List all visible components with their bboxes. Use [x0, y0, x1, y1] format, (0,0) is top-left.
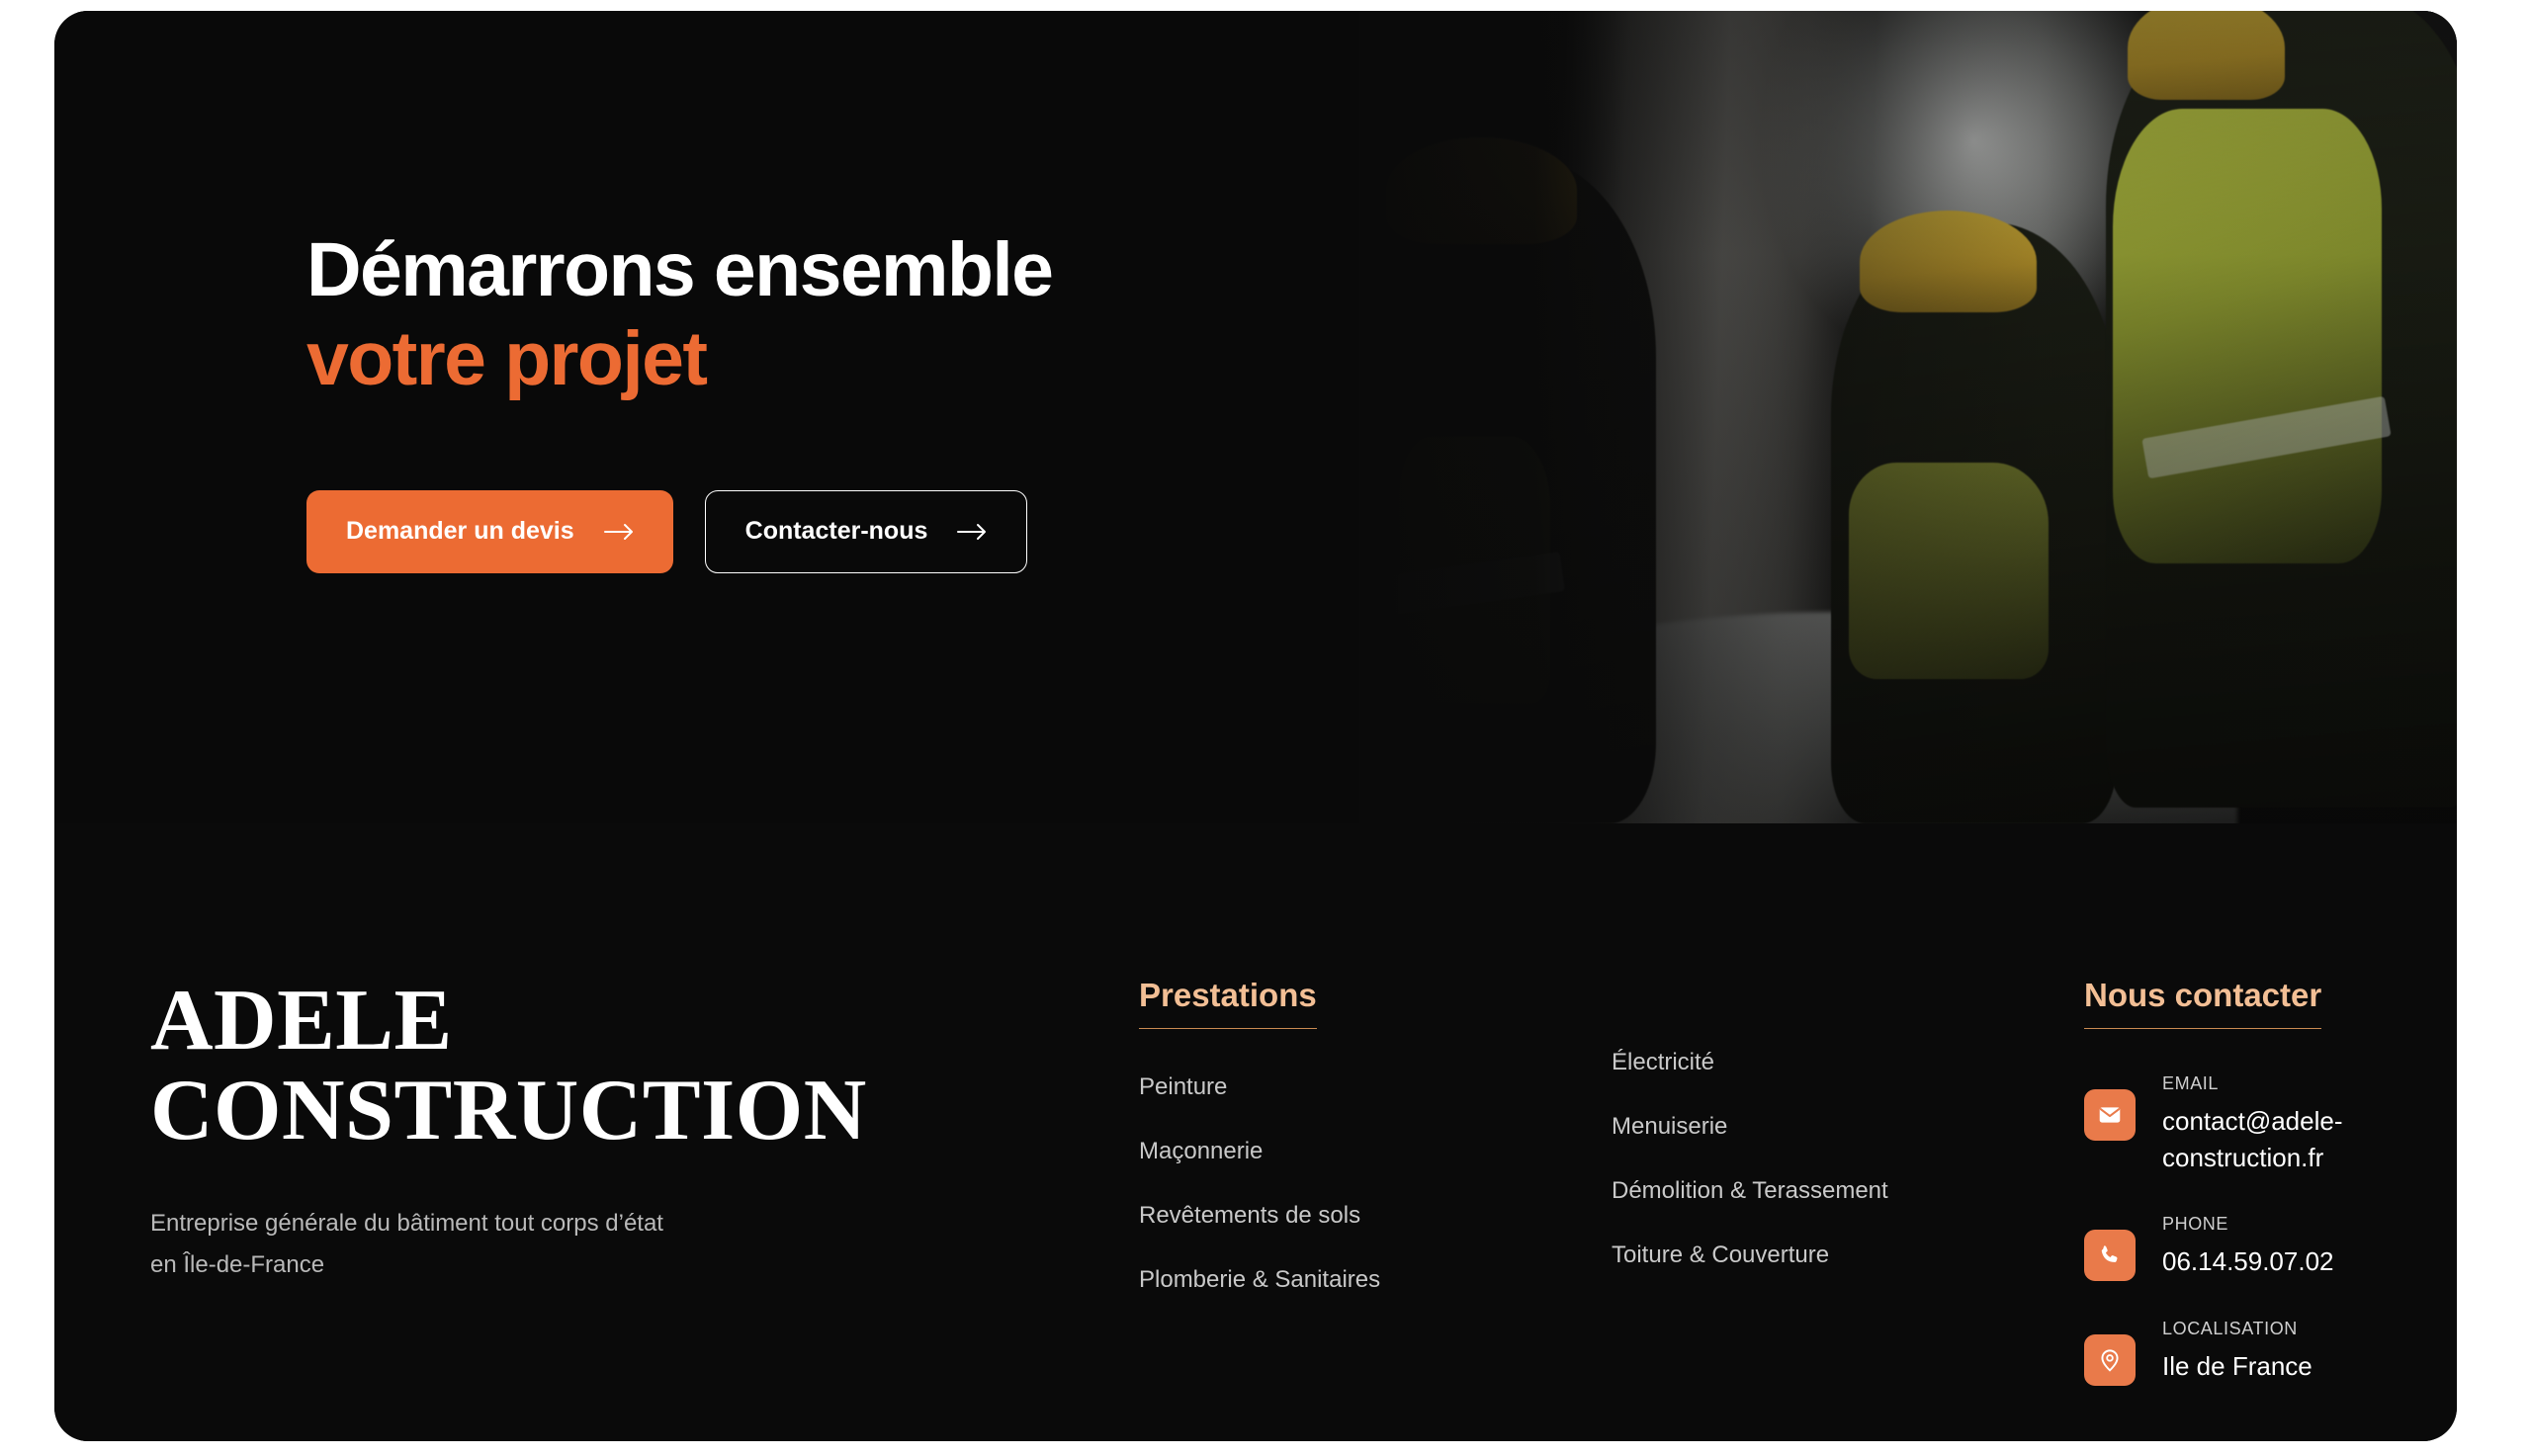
- phone-icon: [2084, 1230, 2136, 1281]
- services-list-1: Peinture Maçonnerie Revêtements de sols …: [1139, 1073, 1612, 1294]
- service-link-plomberie-sanitaires[interactable]: Plomberie & Sanitaires: [1139, 1266, 1380, 1293]
- hero-title: Démarrons ensemble votre projet: [306, 230, 1052, 399]
- footer-contact-column: Nous contacter EMAIL contact@adele-const…: [2084, 977, 2361, 1386]
- contact-heading: Nous contacter: [2084, 977, 2321, 1029]
- hero-section: Démarrons ensemble votre projet Demander…: [54, 11, 2457, 823]
- services-list-2: Électricité Menuiserie Démolition & Tera…: [1612, 1049, 2084, 1269]
- brand-tagline-line-2: en Île-de-France: [150, 1251, 324, 1278]
- brand-tagline-line-1: Entreprise générale du bâtiment tout cor…: [150, 1210, 663, 1237]
- list-item: Électricité: [1612, 1049, 2084, 1076]
- list-item: Peinture: [1139, 1073, 1612, 1101]
- brand-logo: ADELE CONSTRUCTION: [150, 977, 1139, 1156]
- footer-columns: ADELE CONSTRUCTION Entreprise générale d…: [54, 977, 2457, 1386]
- arrow-right-icon: [957, 523, 987, 541]
- arrow-right-icon: [604, 523, 634, 541]
- contact-email-value: contact@adele-construction.fr: [2162, 1103, 2360, 1176]
- page-card: Démarrons ensemble votre projet Demander…: [54, 11, 2457, 1441]
- service-link-toiture-couverture[interactable]: Toiture & Couverture: [1612, 1242, 1829, 1268]
- footer-brand-column: ADELE CONSTRUCTION Entreprise générale d…: [150, 977, 1139, 1386]
- hero-image-vignette: [1359, 11, 2457, 823]
- contact-email-label: EMAIL: [2162, 1073, 2360, 1094]
- footer: ADELE CONSTRUCTION Entreprise générale d…: [54, 823, 2457, 1441]
- hero-content: Démarrons ensemble votre projet Demander…: [306, 11, 1052, 573]
- list-item: Démolition & Terassement: [1612, 1177, 2084, 1205]
- brand-logo-line-2: CONSTRUCTION: [150, 1067, 1139, 1156]
- service-link-menuiserie[interactable]: Menuiserie: [1612, 1113, 1727, 1140]
- hero-title-line-2: votre projet: [306, 319, 1052, 399]
- brand-logo-line-1: ADELE: [150, 977, 1139, 1067]
- request-quote-label: Demander un devis: [346, 517, 574, 546]
- list-item: Menuiserie: [1612, 1113, 2084, 1141]
- contact-location-text: LOCALISATION Ile de France: [2162, 1319, 2313, 1385]
- contact-location-value: Ile de France: [2162, 1348, 2313, 1385]
- contact-location-label: LOCALISATION: [2162, 1319, 2313, 1339]
- hero-image: [1359, 11, 2457, 823]
- service-link-demolition-terassement[interactable]: Démolition & Terassement: [1612, 1177, 1888, 1204]
- contact-item-phone[interactable]: PHONE 06.14.59.07.02: [2084, 1214, 2361, 1281]
- envelope-icon: [2084, 1089, 2136, 1141]
- contact-email-text: EMAIL contact@adele-construction.fr: [2162, 1073, 2360, 1176]
- service-link-electricite[interactable]: Électricité: [1612, 1049, 1714, 1075]
- contact-us-label: Contacter-nous: [745, 517, 928, 546]
- service-link-revetements-de-sols[interactable]: Revêtements de sols: [1139, 1202, 1360, 1229]
- service-link-peinture[interactable]: Peinture: [1139, 1073, 1227, 1100]
- list-item: Maçonnerie: [1139, 1138, 1612, 1165]
- contact-item-email[interactable]: EMAIL contact@adele-construction.fr: [2084, 1073, 2361, 1176]
- hero-cta-group: Demander un devis Contacter-nous: [306, 490, 1052, 573]
- hero-title-line-1: Démarrons ensemble: [306, 227, 1052, 312]
- map-pin-icon: [2084, 1334, 2136, 1386]
- services-heading: Prestations: [1139, 977, 1317, 1029]
- list-item: Plomberie & Sanitaires: [1139, 1266, 1612, 1294]
- list-item: Revêtements de sols: [1139, 1202, 1612, 1230]
- contact-phone-text: PHONE 06.14.59.07.02: [2162, 1214, 2334, 1280]
- contact-phone-label: PHONE: [2162, 1214, 2334, 1235]
- footer-services-column-2: Électricité Menuiserie Démolition & Tera…: [1612, 977, 2084, 1386]
- contact-phone-value: 06.14.59.07.02: [2162, 1243, 2334, 1280]
- request-quote-button[interactable]: Demander un devis: [306, 490, 673, 573]
- brand-tagline: Entreprise générale du bâtiment tout cor…: [150, 1203, 743, 1286]
- contact-item-location[interactable]: LOCALISATION Ile de France: [2084, 1319, 2361, 1386]
- service-link-maconnerie[interactable]: Maçonnerie: [1139, 1138, 1263, 1164]
- footer-services-column-1: Prestations Peinture Maçonnerie Revêteme…: [1139, 977, 1612, 1386]
- list-item: Toiture & Couverture: [1612, 1242, 2084, 1269]
- contact-us-button[interactable]: Contacter-nous: [705, 490, 1028, 573]
